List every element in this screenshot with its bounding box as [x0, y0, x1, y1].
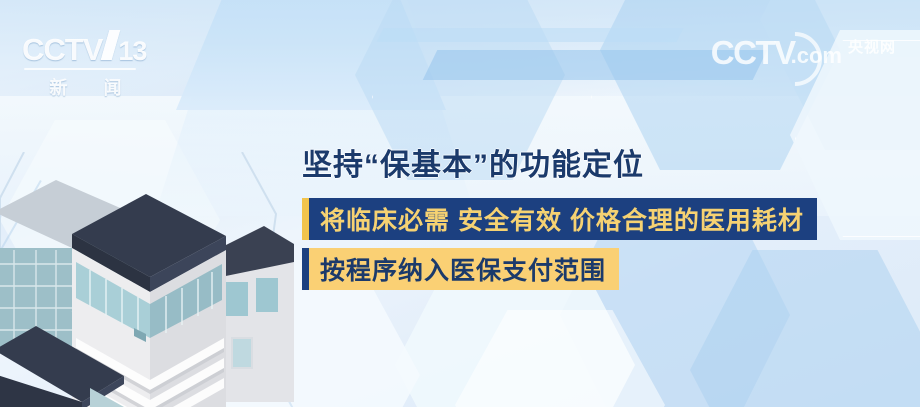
channel-bug-name: 新 闻 — [22, 74, 152, 100]
channel-bug-number: 13 — [118, 38, 146, 65]
background-stripe-upper — [377, 28, 684, 42]
background-hexagon-k — [455, 310, 665, 407]
cctv13-channel-bug: CCTV 13 新 闻 — [22, 30, 152, 92]
channel-bug-network: CCTV — [22, 34, 102, 65]
page-title: 坚持“保基本”的功能定位 — [302, 140, 644, 184]
lower-third-banner-primary: 将临床必需 安全有效 价格合理的医用耗材 — [302, 198, 817, 240]
background-hexagon-g — [690, 250, 920, 407]
channel-bug-wordmark: CCTV 13 — [22, 30, 152, 65]
banner-text: 将临床必需 安全有效 价格合理的医用耗材 — [309, 198, 817, 240]
banner-accent-bar — [302, 198, 309, 240]
lower-third-banner-secondary: 按程序纳入医保支付范围 — [302, 248, 619, 290]
watermark-chinese-brand: 央视网 — [848, 36, 896, 57]
background-hexagon-top-center — [176, 0, 446, 110]
news-graphic-screen: CCTV 13 新 闻 CCTV .com 央视网 坚持“保基本”的功能定位 将… — [0, 0, 920, 407]
banner-text: 按程序纳入医保支付范围 — [309, 248, 619, 290]
hospital-building-illustration — [0, 152, 294, 407]
cctv-com-watermark: CCTV .com 央视网 — [711, 36, 896, 69]
banner-accent-bar — [302, 248, 309, 290]
channel-bug-divider — [24, 68, 136, 70]
